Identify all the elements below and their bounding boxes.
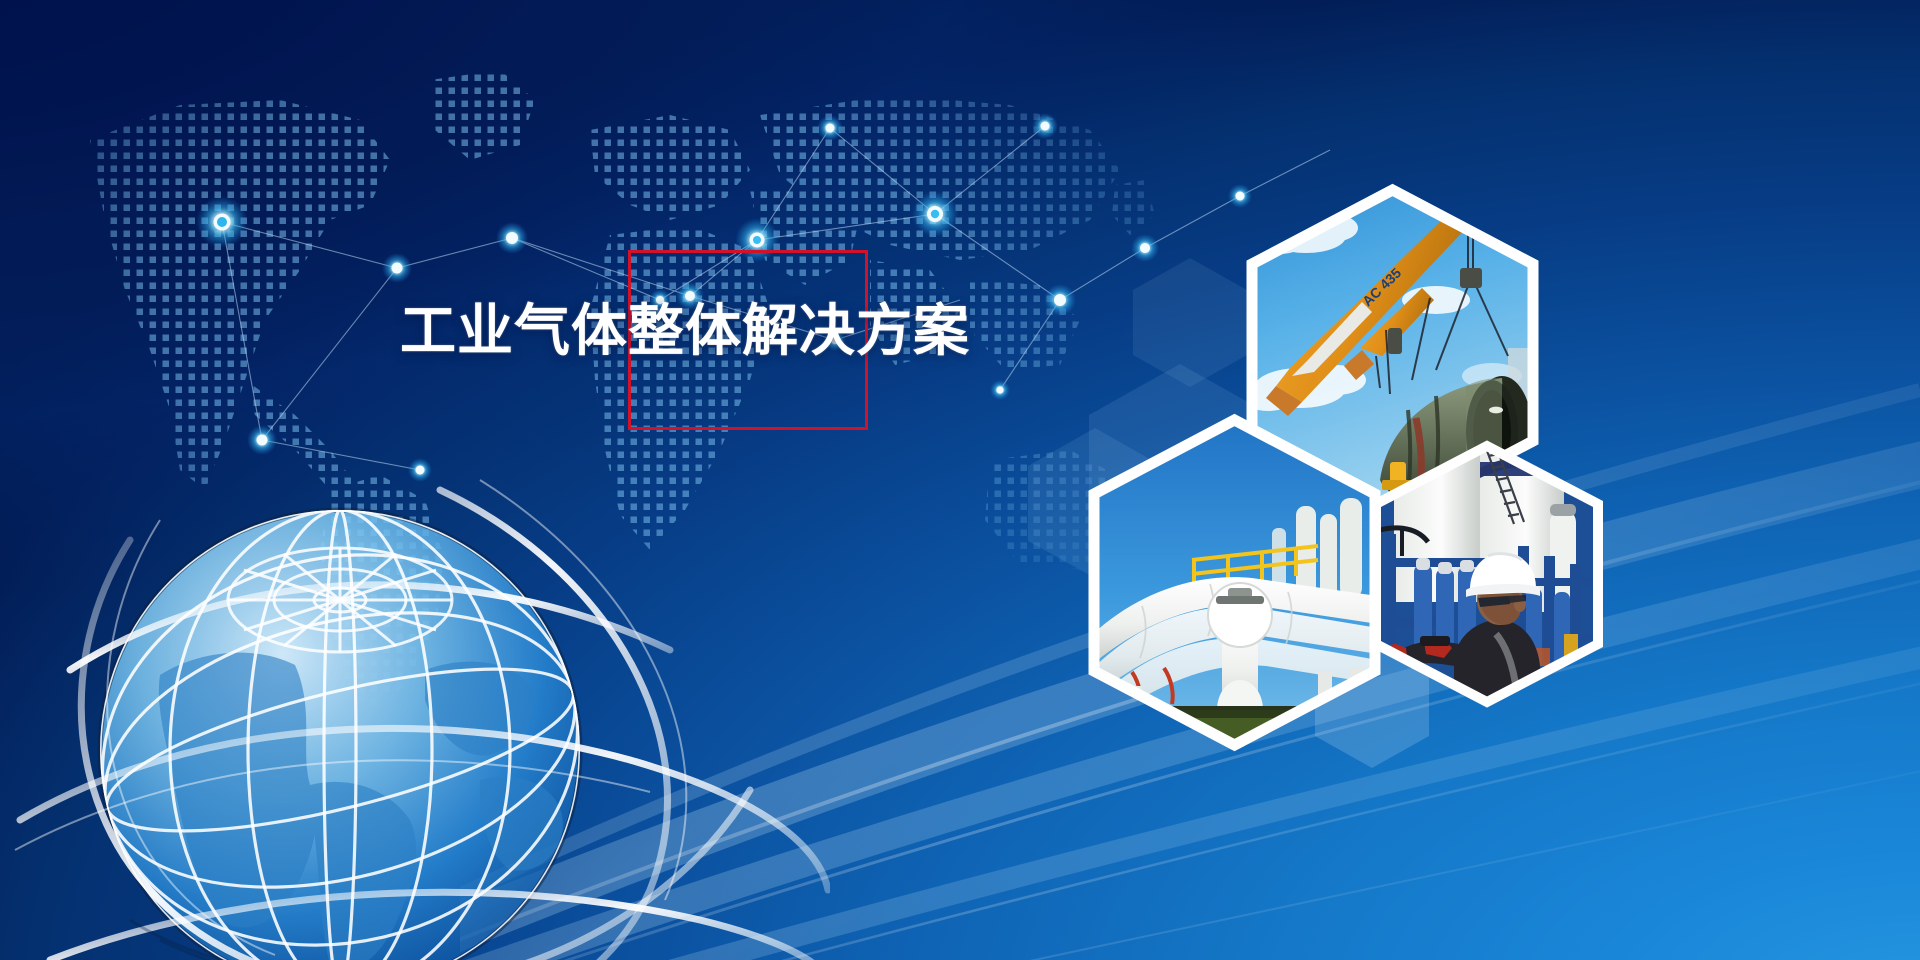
- wireframe-globe: [10, 420, 830, 960]
- title-block: 工业气体整体解决方案: [400, 250, 880, 470]
- banner-stage: AC 435: [0, 0, 1920, 960]
- decor-hexagon-topright: [1130, 255, 1250, 390]
- banner-title: 工业气体整体解决方案: [400, 302, 880, 361]
- hex-photo-worker[interactable]: [1368, 438, 1606, 710]
- hex-photo-pipelines[interactable]: [1082, 410, 1387, 755]
